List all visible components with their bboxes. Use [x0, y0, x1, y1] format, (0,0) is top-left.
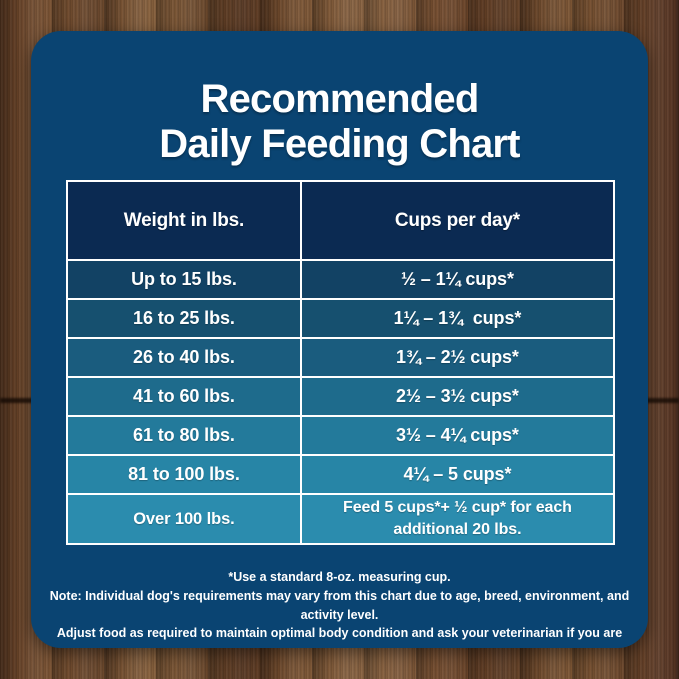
cell-cups: 1¼ – 1¾ cups*	[301, 299, 614, 338]
table-header-row: Weight in lbs. Cups per day*	[67, 181, 614, 260]
wood-table-background: Recommended Daily Feeding Chart Weight i…	[0, 0, 679, 679]
feeding-chart-table: Weight in lbs. Cups per day* Up to 15 lb…	[66, 180, 615, 545]
table-row: 81 to 100 lbs. 4¼ – 5 cups*	[67, 455, 614, 494]
table-row: 26 to 40 lbs. 1¾ – 2½ cups*	[67, 338, 614, 377]
cell-cups: 2½ – 3½ cups*	[301, 377, 614, 416]
cell-cups: 3½ – 4¼ cups*	[301, 416, 614, 455]
table-row: Over 100 lbs. Feed 5 cups*+ ½ cup* for e…	[67, 494, 614, 544]
cell-cups: 1¾ – 2½ cups*	[301, 338, 614, 377]
cell-cups: ½ – 1¼ cups*	[301, 260, 614, 299]
cell-weight: 26 to 40 lbs.	[67, 338, 301, 377]
table-body: Up to 15 lbs. ½ – 1¼ cups* 16 to 25 lbs.…	[67, 260, 614, 544]
cell-weight: 61 to 80 lbs.	[67, 416, 301, 455]
cell-weight: 81 to 100 lbs.	[67, 455, 301, 494]
cell-weight: 16 to 25 lbs.	[67, 299, 301, 338]
cell-cups: Feed 5 cups*+ ½ cup* for each additional…	[301, 494, 614, 544]
column-header-cups: Cups per day*	[301, 181, 614, 260]
cell-weight: 41 to 60 lbs.	[67, 377, 301, 416]
page-title: Recommended Daily Feeding Chart	[31, 77, 648, 167]
cell-cups: 4¼ – 5 cups*	[301, 455, 614, 494]
table-header: Weight in lbs. Cups per day*	[67, 181, 614, 260]
cell-weight: Over 100 lbs.	[67, 494, 301, 544]
footnotes: *Use a standard 8-oz. measuring cup. Not…	[31, 570, 648, 648]
table-row: 61 to 80 lbs. 3½ – 4¼ cups*	[67, 416, 614, 455]
cell-weight: Up to 15 lbs.	[67, 260, 301, 299]
table-row: 16 to 25 lbs. 1¼ – 1¾ cups*	[67, 299, 614, 338]
table-row: Up to 15 lbs. ½ – 1¼ cups*	[67, 260, 614, 299]
page-title-line-1: Recommended	[59, 77, 620, 122]
footnote-adjust: Adjust food as required to maintain opti…	[31, 624, 648, 648]
footnote-variation: Note: Individual dog's requirements may …	[31, 587, 648, 624]
table-row: 41 to 60 lbs. 2½ – 3½ cups*	[67, 377, 614, 416]
page-title-line-2: Daily Feeding Chart	[59, 122, 620, 167]
feeding-chart-card: Recommended Daily Feeding Chart Weight i…	[31, 31, 648, 648]
footnote-measuring-cup: *Use a standard 8-oz. measuring cup.	[31, 570, 648, 584]
column-header-weight: Weight in lbs.	[67, 181, 301, 260]
